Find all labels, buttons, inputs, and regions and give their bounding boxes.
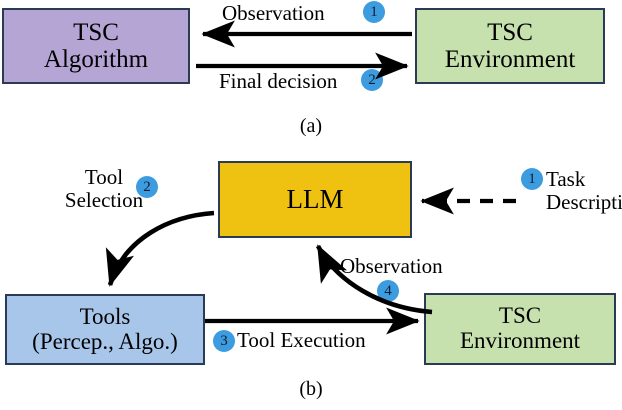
box-tsc-algorithm-line1: TSC	[73, 19, 119, 46]
step-badge-1-panel-a: 1	[363, 1, 385, 23]
figure-container: TSC Algorithm TSC Environment Observatio…	[0, 0, 622, 410]
edge-label-task-description-line1: Task	[546, 167, 585, 191]
edge-label-task-description-line2: Description	[546, 190, 622, 214]
box-tsc-environment-a-line1: TSC	[487, 19, 533, 46]
edge-label-tool-execution: Tool Execution	[237, 329, 366, 352]
edge-label-observation-b: Observation	[340, 255, 443, 278]
box-tsc-environment-b-line1: TSC	[499, 304, 541, 329]
box-llm: LLM	[218, 161, 412, 238]
edge-label-task-description: Task Description	[546, 168, 622, 214]
edge-label-final-decision: Final decision	[219, 70, 337, 93]
box-tsc-algorithm-line2: Algorithm	[44, 46, 148, 73]
step-badge-3-panel-b: 3	[213, 330, 235, 352]
box-tools-line2: (Percep., Algo.)	[32, 330, 178, 355]
box-tsc-environment-b-line2: Environment	[460, 329, 580, 354]
box-llm-line1: LLM	[287, 185, 344, 214]
step-badge-2-panel-a: 2	[361, 69, 383, 91]
box-tools-line1: Tools	[80, 305, 131, 330]
box-tools: Tools (Percep., Algo.)	[5, 294, 205, 365]
box-tsc-environment-a-line2: Environment	[445, 46, 576, 73]
step-badge-2-panel-b: 2	[136, 176, 158, 198]
edge-label-tool-selection-line1: Tool	[85, 165, 123, 189]
edge-label-tool-selection-line2: Selection	[65, 188, 143, 212]
box-tsc-algorithm: TSC Algorithm	[2, 8, 190, 84]
box-tsc-environment-b: TSC Environment	[424, 293, 616, 365]
step-badge-1-panel-b: 1	[521, 168, 543, 190]
step-badge-4-panel-b: 4	[377, 280, 399, 302]
arrow-tool-selection	[110, 213, 214, 285]
box-tsc-environment-a: TSC Environment	[415, 8, 605, 84]
panel-caption-a: (a)	[281, 115, 341, 138]
edge-label-observation-a: Observation	[222, 2, 325, 25]
panel-caption-b: (b)	[281, 378, 341, 401]
